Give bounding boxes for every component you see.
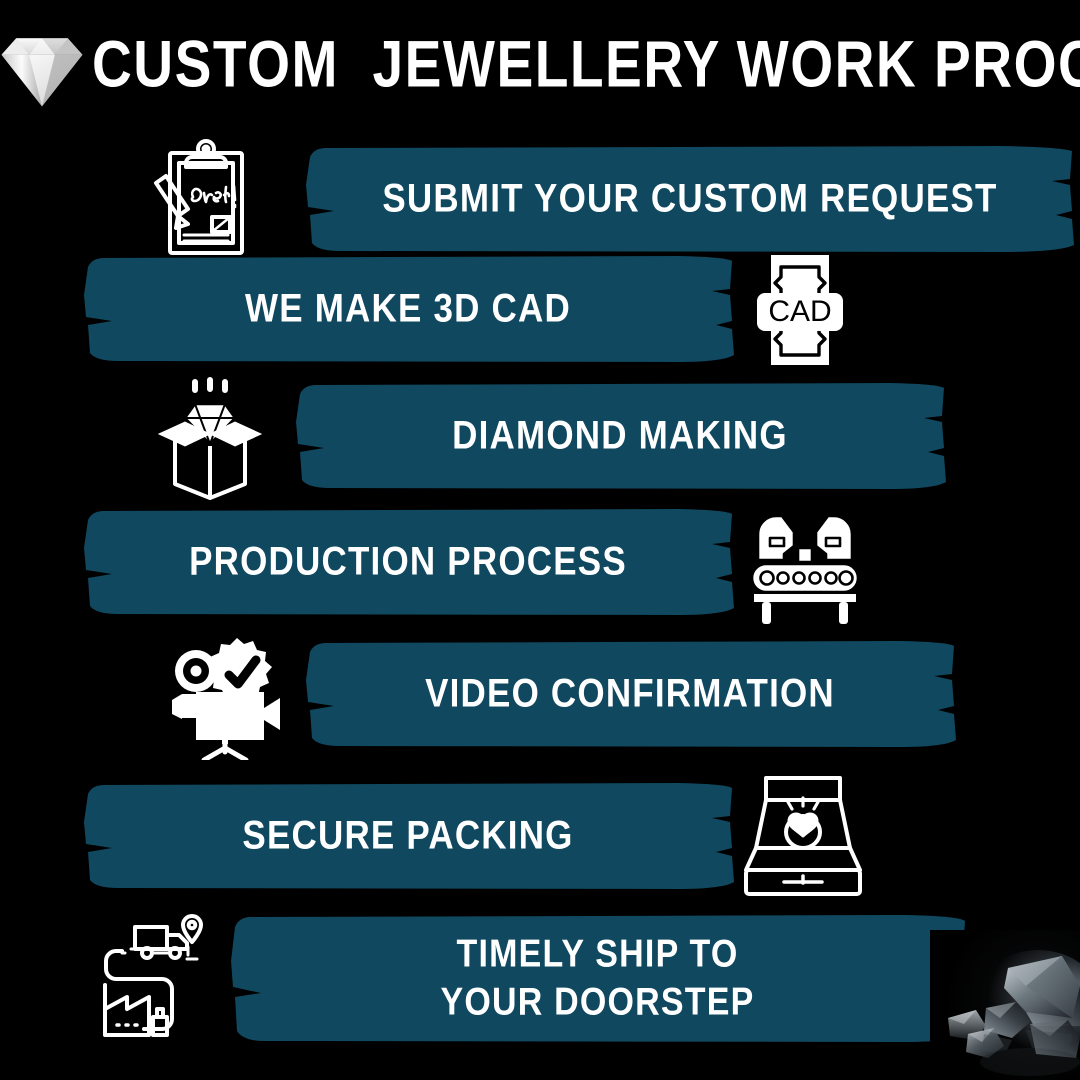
step-row-3: DIAMOND MAKING xyxy=(0,372,1080,502)
step-label-4: PRODUCTION PROCESS xyxy=(78,500,738,625)
diamond-gem-icon xyxy=(0,18,88,110)
step-banner-7[interactable]: TIMELY SHIP TO YOUR DOORSTEP xyxy=(225,913,970,1045)
step-banner-5[interactable]: VIDEO CONFIRMATION xyxy=(300,640,960,750)
step-label-1: SUBMIT YOUR CUSTOM REQUEST xyxy=(300,137,1080,262)
diamond-cluster-photo xyxy=(930,930,1080,1080)
infographic-canvas: CUSTOM JEWELLERY WORK PROCESS xyxy=(0,0,1080,1080)
step-row-4: PRODUCTION PROCESS xyxy=(0,498,1080,628)
step-banner-4[interactable]: PRODUCTION PROCESS xyxy=(78,508,738,618)
step-row-7: TIMELY SHIP TO YOUR DOORSTEP xyxy=(0,905,1080,1055)
step-label-5: VIDEO CONFIRMATION xyxy=(300,632,960,757)
page-title: CUSTOM JEWELLERY WORK PROCESS xyxy=(92,31,1080,97)
step-label-2: WE MAKE 3D CAD xyxy=(78,247,738,372)
step-banner-3[interactable]: DIAMOND MAKING xyxy=(290,382,950,492)
step-label-7: TIMELY SHIP TO YOUR DOORSTEP xyxy=(225,904,970,1054)
diamond-in-open-box-icon xyxy=(145,372,275,502)
factory-truck-route-icon xyxy=(95,913,225,1043)
step-row-2: WE MAKE 3D CAD CAD xyxy=(0,245,1080,375)
cad-printer-icon: CAD xyxy=(735,245,865,375)
step-row-5: VIDEO CONFIRMATION xyxy=(0,630,1080,760)
step-row-6: SECURE PACKING xyxy=(0,772,1080,902)
step-banner-6[interactable]: SECURE PACKING xyxy=(78,782,738,892)
ring-box-heart-icon xyxy=(738,772,868,902)
step-banner-1[interactable]: SUBMIT YOUR CUSTOM REQUEST xyxy=(300,145,1080,255)
step-label-6: SECURE PACKING xyxy=(78,774,738,899)
step-banner-2[interactable]: WE MAKE 3D CAD xyxy=(78,255,738,365)
video-camera-check-icon xyxy=(160,630,290,760)
conveyor-robot-arms-icon xyxy=(740,498,870,628)
header: CUSTOM JEWELLERY WORK PROCESS xyxy=(0,18,1080,110)
cad-icon-text: CAD xyxy=(768,295,831,328)
step-label-3: DIAMOND MAKING xyxy=(290,374,950,499)
